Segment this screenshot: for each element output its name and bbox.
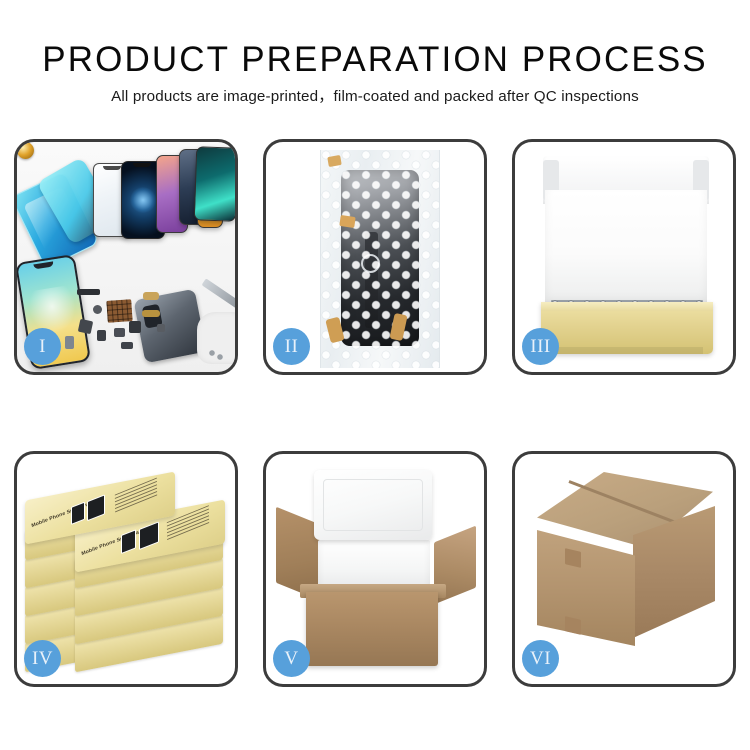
carton-tape-lower-icon bbox=[565, 616, 581, 635]
part-connector-icon bbox=[65, 336, 74, 349]
part-round-icon bbox=[93, 305, 102, 314]
part-strip-icon bbox=[77, 289, 100, 295]
foam-lid-icon bbox=[314, 470, 432, 540]
tape-middle-icon bbox=[339, 215, 355, 228]
part-block-icon bbox=[78, 319, 93, 334]
box-spec-lines-2-icon bbox=[115, 478, 157, 515]
carton-front-face-icon bbox=[537, 530, 635, 646]
process-step-panel-6: VI bbox=[512, 451, 736, 687]
process-step-panel-2: II bbox=[263, 139, 487, 375]
part-square-icon bbox=[129, 321, 141, 333]
step-badge-6: VI bbox=[522, 640, 559, 677]
flex-cable-gold-icon bbox=[143, 292, 159, 300]
screws-icon bbox=[209, 350, 223, 360]
phone-screen-teal-icon bbox=[194, 146, 235, 221]
header: PRODUCT PREPARATION PROCESS All products… bbox=[0, 40, 750, 107]
box-product-image-b-icon bbox=[139, 521, 159, 550]
carton-body-icon bbox=[306, 592, 438, 666]
flex-cable-gold-2-icon bbox=[142, 310, 160, 317]
tweezers-icon bbox=[202, 278, 235, 309]
step-badge-3: III bbox=[522, 328, 559, 365]
step-badge-4: IV bbox=[24, 640, 61, 677]
foam-sheet-icon bbox=[545, 190, 707, 306]
part-bracket-icon bbox=[121, 342, 133, 349]
step-badge-2: II bbox=[273, 328, 310, 365]
gold-component-icon bbox=[17, 142, 34, 159]
page-title: PRODUCT PREPARATION PROCESS bbox=[0, 40, 750, 80]
part-chip-icon bbox=[114, 328, 125, 337]
part-small-icon bbox=[97, 330, 106, 341]
process-step-grid: I II bbox=[14, 139, 736, 687]
process-step-panel-3: III bbox=[512, 139, 736, 375]
process-step-panel-1: I bbox=[14, 139, 238, 375]
kraft-box-tray-icon bbox=[541, 302, 713, 354]
box-product-image-d-icon bbox=[87, 494, 105, 521]
page-subtitle: All products are image-printed，film-coat… bbox=[0, 87, 750, 107]
process-step-panel-4: Mobile Phone Spare Parts Mobile Phone Sp… bbox=[14, 451, 238, 687]
carton-tape-upper-icon bbox=[565, 548, 581, 568]
part-micro-icon bbox=[157, 324, 165, 332]
step-badge-1: I bbox=[24, 328, 61, 365]
chip-grid-icon bbox=[106, 299, 132, 323]
box-product-image-c-icon bbox=[71, 502, 85, 525]
step-badge-5: V bbox=[273, 640, 310, 677]
process-step-panel-5: V bbox=[263, 451, 487, 687]
product-preparation-infographic: PRODUCT PREPARATION PROCESS All products… bbox=[0, 0, 750, 750]
box-product-image-a-icon bbox=[121, 529, 136, 554]
kraft-box-stack-icon: Mobile Phone Spare Parts Mobile Phone Sp… bbox=[23, 478, 229, 668]
